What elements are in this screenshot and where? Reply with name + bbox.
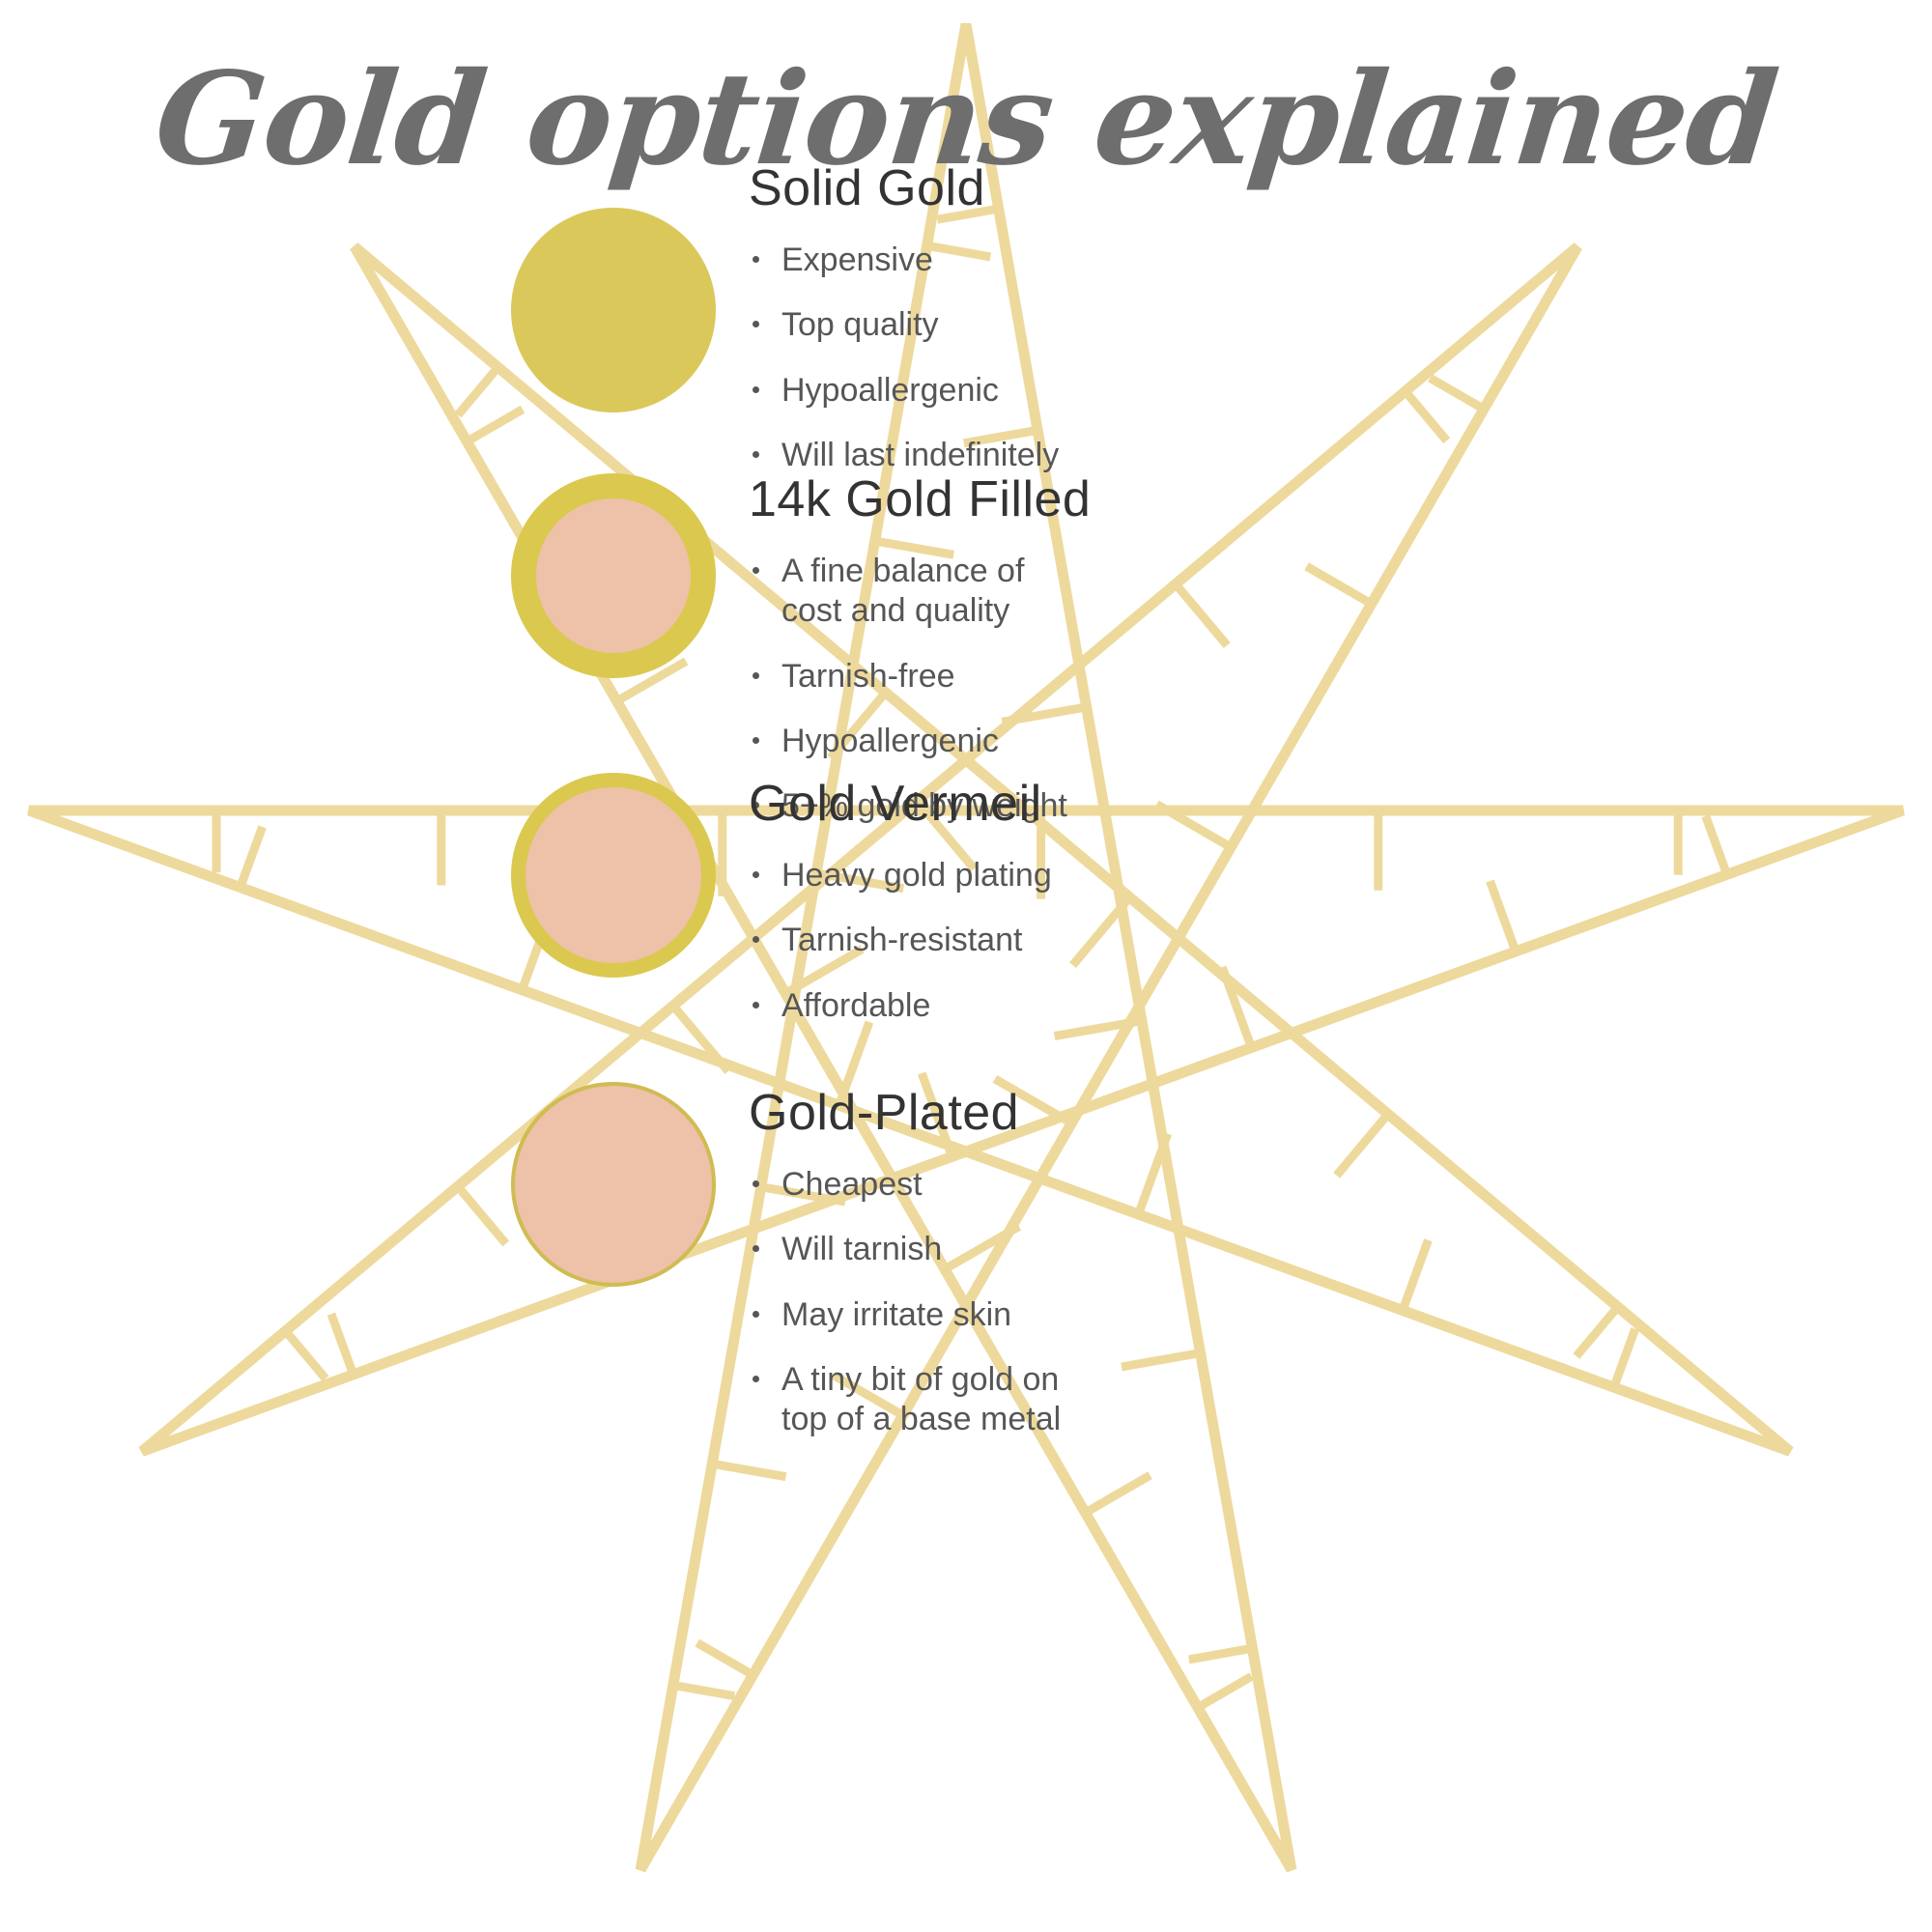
infographic-canvas: Gold options explained Solid GoldExpensi… [0,0,1932,1932]
section-gold-vermeil: Gold VermeilHeavy gold platingTarnish-re… [749,778,1425,1026]
bullet-text-line: Cheapest [781,1165,1425,1205]
bullet-text-line: Affordable [781,986,1425,1026]
bullet-text-line: top of a base metal [781,1400,1425,1439]
bullet-item: Will last indefinitely [749,436,1425,475]
page-title: Gold options explained [0,56,1932,184]
bullet-dot-icon [753,1245,759,1252]
section-14k-gold-filled: 14k Gold FilledA fine balance ofcost and… [749,473,1425,827]
bullet-dot-icon [753,672,759,679]
solid-gold-swatch-cell [478,208,749,412]
bullet-list-gold-vermeil: Heavy gold platingTarnish-resistantAffor… [749,856,1425,1026]
bullet-dot-icon [753,451,759,458]
bullet-dot-icon [753,567,759,574]
bullet-list-gold-plated: CheapestWill tarnishMay irritate skinA t… [749,1165,1425,1440]
bullet-item: Hypoallergenic [749,371,1425,411]
bullet-item: Tarnish-free [749,657,1425,696]
bullet-dot-icon [753,871,759,878]
bullet-text-line: Tarnish-free [781,657,1425,696]
bullet-dot-icon [753,386,759,393]
bullet-item: Will tarnish [749,1230,1425,1269]
bullet-dot-icon [753,737,759,744]
bullet-dot-icon [753,1180,759,1187]
solid-gold-swatch [511,208,716,412]
section-solid-gold: Solid GoldExpensiveTop qualityHypoallerg… [749,162,1425,475]
bullet-dot-icon [753,321,759,327]
bullet-dot-icon [753,1002,759,1009]
bullet-item: Tarnish-resistant [749,921,1425,960]
section-heading-gold-vermeil: Gold Vermeil [749,778,1425,831]
gold-plated-swatch-cell [478,1082,749,1287]
gold-filled-swatch-cell [478,473,749,678]
bullet-dot-icon [753,1376,759,1382]
bullet-text-line: Will last indefinitely [781,436,1425,475]
bullet-item: May irritate skin [749,1295,1425,1335]
bullet-text-line: Will tarnish [781,1230,1425,1269]
bullet-item: A tiny bit of gold ontop of a base metal [749,1360,1425,1440]
bullet-dot-icon [753,936,759,943]
gold-vermeil-swatch [511,773,716,978]
section-heading-14k-gold-filled: 14k Gold Filled [749,473,1425,526]
bullet-item: Hypoallergenic [749,722,1425,761]
bullet-dot-icon [753,1311,759,1318]
gold-filled-swatch [511,473,716,678]
bullet-text-line: Tarnish-resistant [781,921,1425,960]
bullet-item: Top quality [749,305,1425,345]
bullet-item: Expensive [749,241,1425,280]
bullet-item: A fine balance ofcost and quality [749,552,1425,632]
gold-vermeil-swatch-cell [478,773,749,978]
section-gold-plated: Gold-PlatedCheapestWill tarnishMay irrit… [749,1087,1425,1440]
bullet-text-line: cost and quality [781,591,1425,631]
bullet-text-line: Heavy gold plating [781,856,1425,895]
section-heading-gold-plated: Gold-Plated [749,1087,1425,1140]
sections-container: Solid GoldExpensiveTop qualityHypoallerg… [0,0,1932,1932]
bullet-item: Affordable [749,986,1425,1026]
bullet-item: Cheapest [749,1165,1425,1205]
bullet-text-line: Hypoallergenic [781,722,1425,761]
bullet-text-line: Top quality [781,305,1425,345]
bullet-dot-icon [753,256,759,263]
bullet-text-line: Hypoallergenic [781,371,1425,411]
bullet-item: Heavy gold plating [749,856,1425,895]
bullet-text-line: May irritate skin [781,1295,1425,1335]
bullet-list-solid-gold: ExpensiveTop qualityHypoallergenicWill l… [749,241,1425,476]
gold-plated-swatch [511,1082,716,1287]
bullet-text-line: Expensive [781,241,1425,280]
bullet-text-line: A fine balance of [781,552,1425,591]
bullet-text-line: A tiny bit of gold on [781,1360,1425,1400]
